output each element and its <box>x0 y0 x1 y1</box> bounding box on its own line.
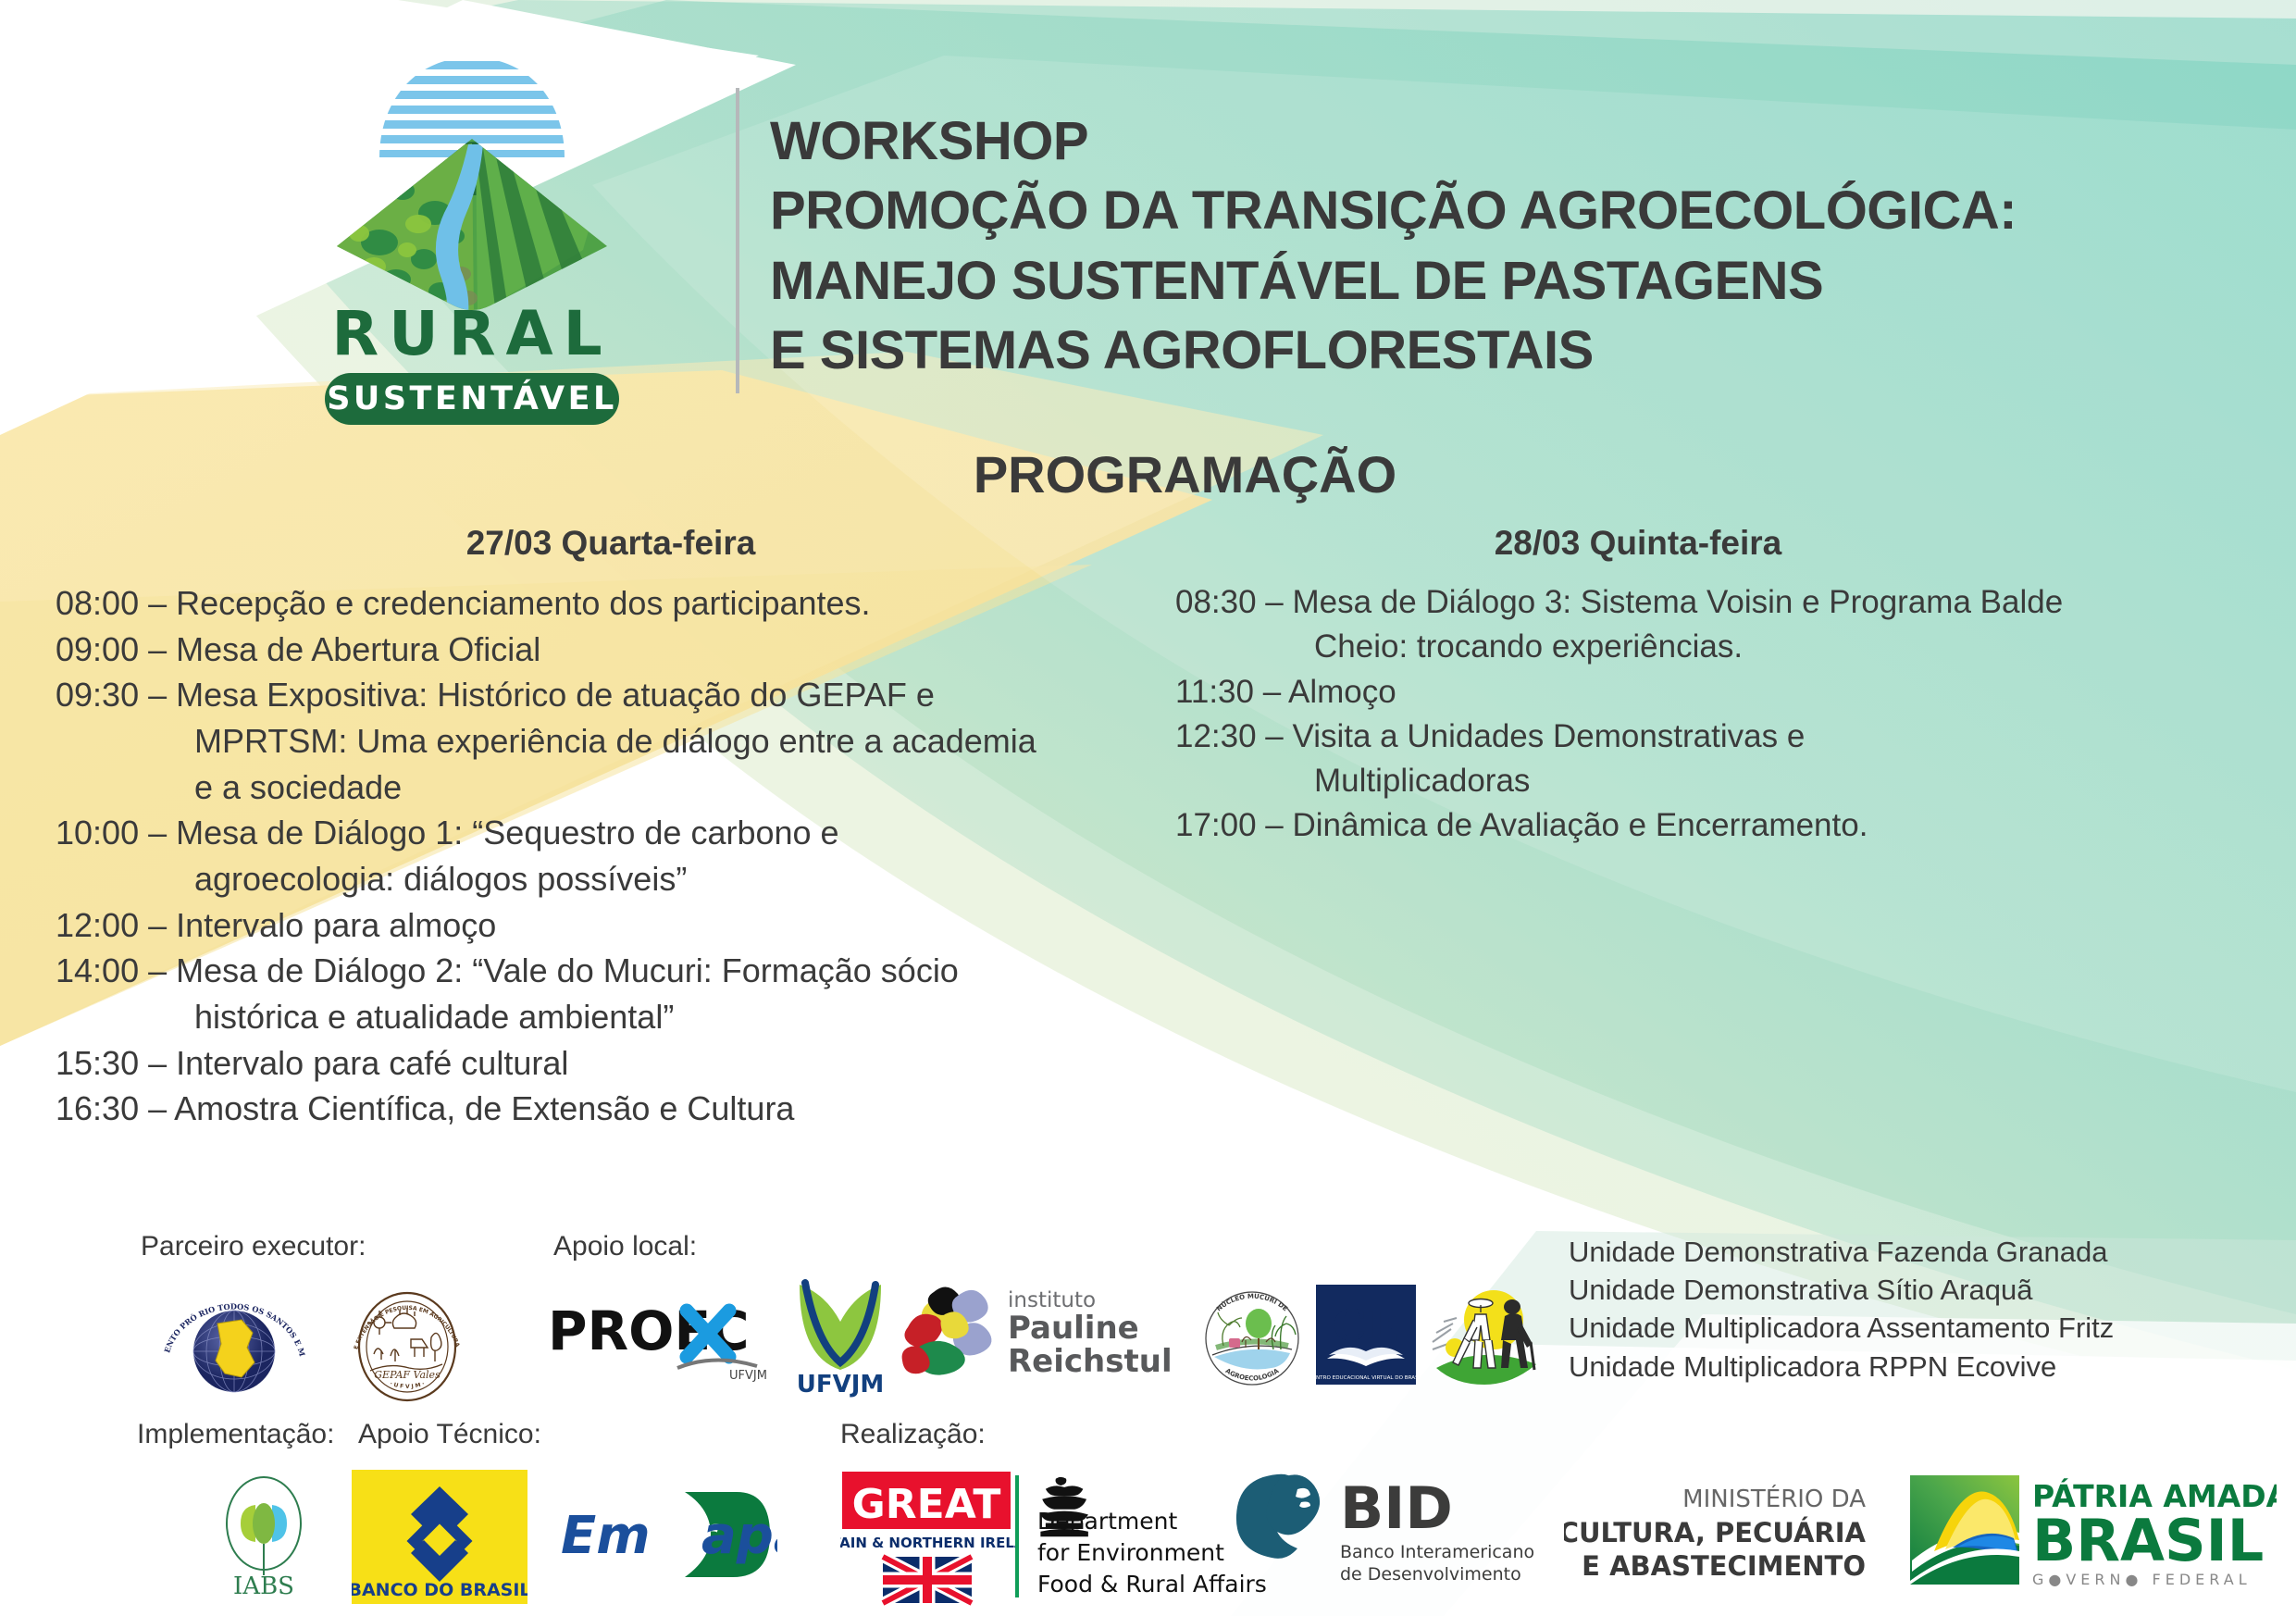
great-britain-northern-ireland-logo: GREAT BRITAIN & NORTHERN IRELAND <box>840 1470 1016 1607</box>
schedule-item-day1-4: e a sociedade <box>56 764 1166 811</box>
svg-text:GEPAF Vales: GEPAF Vales <box>374 1369 441 1381</box>
schedule-column-day1: 27/03 Quarta-feira 08:00 – Recepção e cr… <box>56 524 1166 1132</box>
unit-item-1: Unidade Demonstrativa Sítio Araquã <box>1569 1271 2272 1309</box>
farmers-sunrise-logo <box>1427 1275 1547 1394</box>
label-parceiro-executor: Parceiro executor: <box>141 1231 366 1262</box>
schedule-item-day1-1: 09:00 – Mesa de Abertura Oficial <box>56 627 1166 673</box>
schedule-item-day2-4: Multiplicadoras <box>1175 759 2267 803</box>
svg-text:E ABASTECIMENTO: E ABASTECIMENTO <box>1582 1550 1866 1582</box>
label-apoio-tecnico: Apoio Técnico: <box>358 1419 541 1450</box>
poster-header: RURAL SUSTENTÁVEL WORKSHOP PROMOÇÃO DA T… <box>0 0 2296 435</box>
title-line-3: MANEJO SUSTENTÁVEL DE PASTAGENS <box>770 246 2084 316</box>
title-line-4: E SISTEMAS AGROFLORESTAIS <box>770 316 2084 385</box>
svg-text:Pauline: Pauline <box>1008 1310 1139 1347</box>
svg-text:AGRICULTURA, PECUÁRIA: AGRICULTURA, PECUÁRIA <box>1564 1517 1867 1548</box>
svg-text:BID: BID <box>1340 1474 1453 1542</box>
svg-text:G●VERN● FEDERAL: G●VERN● FEDERAL <box>2032 1571 2252 1588</box>
schedule-item-day2-2: 11:30 – Almoço <box>1175 670 2267 715</box>
day2-schedule-list: 08:30 – Mesa de Diálogo 3: Sistema Voisi… <box>1175 580 2267 849</box>
iabs-logo: IABS <box>204 1472 324 1601</box>
logo-wordmark: RURAL <box>278 304 666 365</box>
logo-badge: SUSTENTÁVEL <box>325 373 619 425</box>
schedule-item-day1-9: histórica e atualidade ambiental” <box>56 994 1166 1040</box>
title-divider <box>736 88 739 393</box>
landscape-icon <box>324 120 629 315</box>
svg-text:Banco Interamericano: Banco Interamericano <box>1340 1542 1534 1562</box>
svg-text:Department: Department <box>1037 1508 1177 1535</box>
schedule-item-day2-0: 08:30 – Mesa de Diálogo 3: Sistema Voisi… <box>1175 580 2267 625</box>
svg-text:for Environment: for Environment <box>1037 1539 1224 1566</box>
svg-text:IABS: IABS <box>233 1572 294 1600</box>
poster-root: RURAL SUSTENTÁVEL WORKSHOP PROMOÇÃO DA T… <box>0 0 2296 1616</box>
unit-item-2: Unidade Multiplicadora Assentamento Frit… <box>1569 1309 2272 1347</box>
svg-text:BANCO DO BRASIL: BANCO DO BRASIL <box>352 1580 527 1600</box>
svg-text:CE: CE <box>1333 1300 1399 1350</box>
svg-text:Reichstul: Reichstul <box>1008 1343 1173 1380</box>
patria-amada-brasil-logo: PÁTRIA AMADA BRASIL G●VERN● FEDERAL <box>1906 1470 2277 1599</box>
unit-item-0: Unidade Demonstrativa Fazenda Granada <box>1569 1233 2272 1271</box>
poster-title: WORKSHOP PROMOÇÃO DA TRANSIÇÃO AGROECOLÓ… <box>770 106 2084 386</box>
rural-landscape-diamond-icon <box>278 28 666 315</box>
label-apoio-local: Apoio local: <box>553 1231 697 1262</box>
schedule-item-day2-3: 12:30 – Visita a Unidades Demonstrativas… <box>1175 715 2267 759</box>
schedule-item-day1-5: 10:00 – Mesa de Diálogo 1: “Sequestro de… <box>56 810 1166 856</box>
label-implementacao: Implementação: <box>137 1419 334 1450</box>
svg-text:de Desenvolvimento: de Desenvolvimento <box>1340 1564 1521 1585</box>
bid-logo: BID Banco Interamericano de Desenvolvime… <box>1222 1467 1536 1597</box>
title-line-1: WORKSHOP <box>770 106 2084 176</box>
svg-text:NÚCLEO MUCURI DE: NÚCLEO MUCURI DE <box>1215 1293 1289 1313</box>
ufvjm-logo: UFVJM <box>788 1277 892 1398</box>
label-realizacao: Realização: <box>840 1419 986 1450</box>
rural-sustentavel-logo: RURAL SUSTENTÁVEL <box>278 28 666 416</box>
schedule-item-day2-5: 17:00 – Dinâmica de Avaliação e Encerram… <box>1175 803 2267 848</box>
schedule-item-day1-7: 12:00 – Intervalo para almoço <box>56 902 1166 949</box>
title-line-2: PROMOÇÃO DA TRANSIÇÃO AGROECOLÓGICA: <box>770 176 2084 245</box>
svg-text:apa: apa <box>701 1506 777 1566</box>
schedule-item-day1-0: 08:00 – Recepção e credenciamento dos pa… <box>56 580 1166 627</box>
demonstration-units-list: Unidade Demonstrativa Fazenda GranadaUni… <box>1569 1233 2272 1386</box>
schedule-item-day2-1: Cheio: trocando experiências. <box>1175 625 2267 669</box>
centro-educacional-virtual-brasil-logo: CE CENTRO EDUCACIONAL VIRTUAL DO BRASIL <box>1312 1279 1420 1392</box>
schedule-item-day1-2: 09:30 – Mesa Expositiva: Histórico de at… <box>56 672 1166 718</box>
schedule-item-day1-3: MPRTSM: Uma experiência de diálogo entre… <box>56 718 1166 764</box>
schedule-item-day1-11: 16:30 – Amostra Científica, de Extensão … <box>56 1086 1166 1132</box>
banco-do-brasil-logo: BANCO DO BRASIL <box>352 1470 527 1604</box>
nucleo-mucuri-agroecologia-logo: NÚCLEO MUCURI DE AGROECOLOGIA <box>1192 1277 1312 1398</box>
svg-text:UFVJM: UFVJM <box>729 1369 767 1383</box>
svg-text:GRUPO DE EXTENSÃO E PESQUISA E: GRUPO DE EXTENSÃO E PESQUISA EM AGRICULT… <box>342 1282 461 1350</box>
mprtsm-globe-logo: MOVIMENTO PRÓ RIO TODOS OS SANTOS E MUCU… <box>153 1287 315 1402</box>
unit-item-3: Unidade Multiplicadora RPPN Ecovive <box>1569 1348 2272 1386</box>
svg-text:BRITAIN & NORTHERN IRELAND: BRITAIN & NORTHERN IRELAND <box>840 1535 1016 1551</box>
embrapa-logo: Em br apa <box>555 1481 777 1597</box>
schedule-item-day1-6: agroecologia: diálogos possíveis” <box>56 856 1166 902</box>
gepaf-vales-logo: GEPAF Vales GRUPO DE EXTENSÃO E PESQUISA… <box>342 1282 472 1407</box>
schedule-item-day1-8: 14:00 – Mesa de Diálogo 2: “Vale do Mucu… <box>56 948 1166 994</box>
svg-text:· U F V J M ·: · U F V J M · <box>389 1381 425 1390</box>
schedule-column-day2: 28/03 Quinta-feira 08:30 – Mesa de Diálo… <box>1175 524 2267 849</box>
instituto-pauline-reichstul-logo: instituto Pauline Reichstul <box>893 1275 1189 1386</box>
day1-date: 27/03 Quarta-feira <box>56 524 1166 563</box>
svg-text:GREAT: GREAT <box>852 1481 1001 1528</box>
program-heading-text: PROGRAMAÇÃO <box>974 445 1396 503</box>
program-heading: PROGRAMAÇÃO <box>0 444 2296 504</box>
svg-text:UFVJM: UFVJM <box>797 1371 885 1398</box>
svg-text:CENTRO EDUCACIONAL VIRTUAL DO: CENTRO EDUCACIONAL VIRTUAL DO BRASIL <box>1312 1375 1420 1381</box>
svg-text:BRASIL: BRASIL <box>2032 1507 2264 1574</box>
day1-schedule-list: 08:00 – Recepção e credenciamento dos pa… <box>56 580 1166 1132</box>
svg-text:MINISTÉRIO DA: MINISTÉRIO DA <box>1682 1484 1866 1513</box>
proexc-ufvjm-logo: PROE C UFVJM <box>548 1288 779 1390</box>
day2-date: 28/03 Quinta-feira <box>1175 524 2267 563</box>
ministerio-agricultura-logo: MINISTÉRIO DA AGRICULTURA, PECUÁRIA E AB… <box>1564 1473 1869 1594</box>
schedule-item-day1-10: 15:30 – Intervalo para café cultural <box>56 1040 1166 1087</box>
svg-text:Em: Em <box>561 1506 651 1566</box>
